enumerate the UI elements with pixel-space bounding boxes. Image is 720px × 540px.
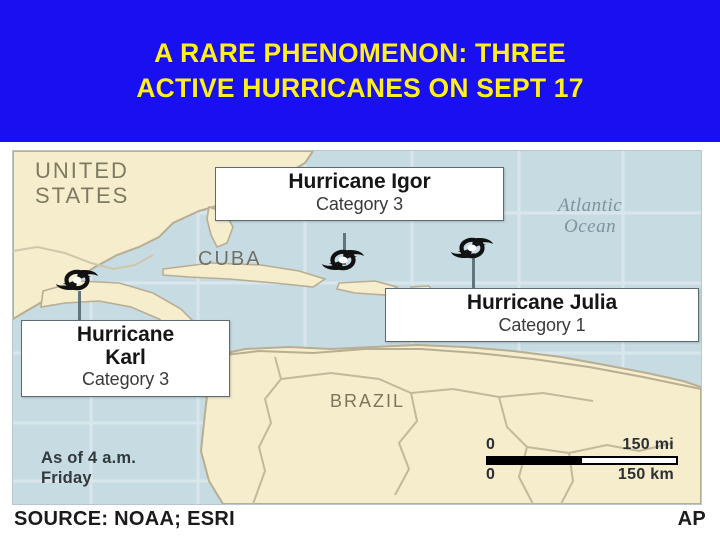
hurricane-symbol-icon-karl bbox=[55, 263, 99, 297]
source-label: SOURCE: NOAA; ESRI bbox=[14, 508, 235, 531]
source-footer: SOURCE: NOAA; ESRI AP bbox=[0, 505, 720, 540]
callout-igor-category: Category 3 bbox=[224, 194, 495, 215]
map-label-atlantic-ocean: Atlantic Ocean bbox=[558, 196, 622, 238]
callout-igor-name: Hurricane Igor bbox=[224, 171, 495, 194]
page-title: A RARE PHENOMENON: THREE ACTIVE HURRICAN… bbox=[136, 36, 583, 106]
scale-km-start: 0 bbox=[486, 466, 495, 484]
credit-label: AP bbox=[678, 508, 706, 531]
map-label-cuba: CUBA bbox=[198, 248, 262, 271]
callout-karl-category: Category 3 bbox=[30, 369, 221, 390]
callout-hurricane-karl: Hurricane Karl Category 3 bbox=[21, 320, 230, 397]
callout-karl-name: Hurricane Karl bbox=[30, 324, 221, 369]
map-scale-bar: 0 150 mi 0 150 km bbox=[486, 436, 678, 484]
map-container: UNITED STATES CUBA BRAZIL Atlantic Ocean bbox=[12, 150, 702, 505]
hurricane-symbol-icon-igor bbox=[321, 243, 365, 277]
scale-miles-row: 0 150 mi bbox=[486, 436, 678, 454]
hurricane-symbol-icon-julia bbox=[450, 231, 494, 265]
scale-km-row: 0 150 km bbox=[486, 466, 678, 484]
callout-julia-category: Category 1 bbox=[394, 315, 690, 336]
scale-miles-start: 0 bbox=[486, 436, 495, 454]
map-label-brazil: BRAZIL bbox=[330, 391, 405, 412]
title-banner: A RARE PHENOMENON: THREE ACTIVE HURRICAN… bbox=[0, 0, 720, 142]
scale-bar-graphic bbox=[486, 456, 678, 465]
callout-julia-name: Hurricane Julia bbox=[394, 292, 690, 315]
as-of-note: As of 4 a.m. Friday bbox=[41, 448, 136, 488]
map-label-united-states: UNITED STATES bbox=[35, 159, 129, 208]
infographic-root: A RARE PHENOMENON: THREE ACTIVE HURRICAN… bbox=[0, 0, 720, 540]
callout-hurricane-julia: Hurricane Julia Category 1 bbox=[385, 288, 699, 342]
callout-hurricane-igor: Hurricane Igor Category 3 bbox=[215, 167, 504, 221]
scale-km-end: 150 km bbox=[618, 466, 678, 484]
scale-miles-end: 150 mi bbox=[622, 436, 678, 454]
